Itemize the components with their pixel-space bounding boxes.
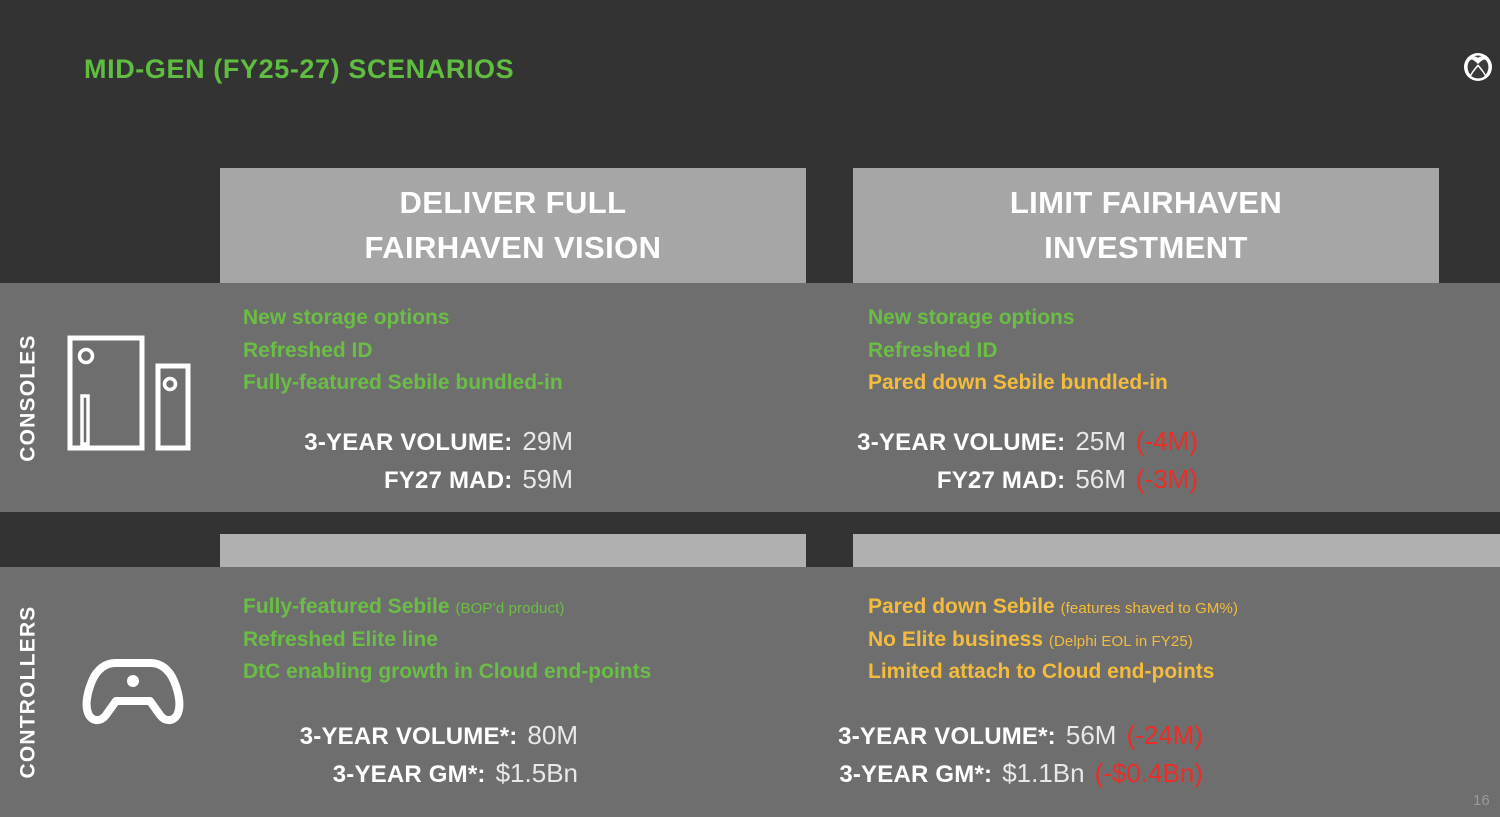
metric-value: 59M xyxy=(522,464,573,495)
metric-row: FY27 MAD: 56M (-3M) xyxy=(868,464,1198,502)
metric-value: 25M xyxy=(1075,426,1126,457)
bullet-item: Limited attach to Cloud end-points xyxy=(868,657,1238,690)
metric-value: 56M xyxy=(1066,720,1117,751)
bullet-item: Pared down Sebile (features shaved to GM… xyxy=(868,592,1238,625)
metrics-controllers-deliver-full-fairhaven-vision: 3-YEAR VOLUME*: 80M 3-YEAR GM*: $1.5Bn xyxy=(233,720,578,796)
bullet-text: New storage options xyxy=(868,306,1075,329)
metric-value: $1.5Bn xyxy=(496,758,578,789)
metric-delta: (-$0.4Bn) xyxy=(1095,758,1203,789)
bullet-text: DtC enabling growth in Cloud end-points xyxy=(243,660,651,683)
bullet-item: Refreshed ID xyxy=(243,336,563,369)
metric-value: 80M xyxy=(527,720,578,751)
metrics-consoles-limit-fairhaven-investment: 3-YEAR VOLUME: 25M (-4M) FY27 MAD: 56M (… xyxy=(868,426,1198,502)
page-title: MID-GEN (FY25-27) SCENARIOS xyxy=(84,54,514,85)
metric-delta: (-4M) xyxy=(1136,426,1198,457)
bullets-controllers-deliver-full-fairhaven-vision: Fully-featured Sebile (BOP’d product) Re… xyxy=(243,592,651,690)
metric-row: 3-YEAR VOLUME*: 56M (-24M) xyxy=(858,720,1203,758)
metric-row: 3-YEAR VOLUME: 25M (-4M) xyxy=(868,426,1198,464)
bullets-controllers-limit-fairhaven-investment: Pared down Sebile (features shaved to GM… xyxy=(868,592,1238,690)
metric-label: 3-YEAR VOLUME: xyxy=(857,429,1065,457)
column-strip-far-right xyxy=(1439,534,1500,567)
bullet-item: Refreshed Elite line xyxy=(243,625,651,658)
metric-label: FY27 MAD: xyxy=(937,467,1065,495)
row-label-consoles-text: CONSOLES xyxy=(17,334,41,461)
bullet-item: Refreshed ID xyxy=(868,336,1168,369)
bullet-item: Fully-featured Sebile bundled-in xyxy=(243,368,563,401)
bullet-item: Fully-featured Sebile (BOP’d product) xyxy=(243,592,651,625)
metric-row: 3-YEAR VOLUME*: 80M xyxy=(233,720,578,758)
bullet-note: (BOP’d product) xyxy=(455,600,564,617)
bullet-text: Fully-featured Sebile xyxy=(243,595,450,618)
metric-row: 3-YEAR VOLUME: 29M xyxy=(243,426,573,464)
column-strip-right xyxy=(853,534,1439,567)
column-header-left-line2: FAIRHAVEN VISION xyxy=(365,226,662,270)
metrics-consoles-deliver-full-fairhaven-vision: 3-YEAR VOLUME: 29M FY27 MAD: 59M xyxy=(243,426,573,502)
slide-canvas: MID-GEN (FY25-27) SCENARIOS DELIVER FULL… xyxy=(0,0,1500,817)
metric-value: 56M xyxy=(1075,464,1126,495)
metric-row: 3-YEAR GM*: $1.1Bn (-$0.4Bn) xyxy=(858,758,1203,796)
bullet-item: DtC enabling growth in Cloud end-points xyxy=(243,657,651,690)
metric-label: 3-YEAR VOLUME: xyxy=(304,429,512,457)
controller-icon xyxy=(82,655,184,734)
bullet-text: Fully-featured Sebile bundled-in xyxy=(243,371,563,394)
bullet-text: Pared down Sebile xyxy=(868,595,1055,618)
console-icon xyxy=(66,334,191,459)
row-label-controllers: CONTROLLERS xyxy=(0,567,58,817)
column-header-limit-fairhaven-investment: LIMIT FAIRHAVEN INVESTMENT xyxy=(853,168,1439,283)
bullet-text: Refreshed ID xyxy=(243,339,373,362)
metric-value: 29M xyxy=(522,426,573,457)
bullet-item: New storage options xyxy=(243,303,563,336)
bullet-item: New storage options xyxy=(868,303,1168,336)
metric-delta: (-3M) xyxy=(1136,464,1198,495)
metrics-controllers-limit-fairhaven-investment: 3-YEAR VOLUME*: 56M (-24M) 3-YEAR GM*: $… xyxy=(858,720,1203,796)
row-label-consoles: CONSOLES xyxy=(0,283,58,512)
page-number: 16 xyxy=(1473,792,1490,809)
metric-label: 3-YEAR GM*: xyxy=(839,761,992,789)
bullets-consoles-limit-fairhaven-investment: New storage options Refreshed ID Pared d… xyxy=(868,303,1168,401)
column-header-right-line1: LIMIT FAIRHAVEN xyxy=(1010,181,1282,225)
bullet-item: No Elite business (Delphi EOL in FY25) xyxy=(868,625,1238,658)
row-label-controllers-text: CONTROLLERS xyxy=(17,605,41,778)
column-header-left-line1: DELIVER FULL xyxy=(365,181,662,225)
metric-delta: (-24M) xyxy=(1126,720,1203,751)
bullets-consoles-deliver-full-fairhaven-vision: New storage options Refreshed ID Fully-f… xyxy=(243,303,563,401)
bullet-text: New storage options xyxy=(243,306,450,329)
metric-label: FY27 MAD: xyxy=(384,467,512,495)
metric-row: 3-YEAR GM*: $1.5Bn xyxy=(233,758,578,796)
bullet-text: Refreshed Elite line xyxy=(243,628,438,651)
bullet-text: No Elite business xyxy=(868,628,1043,651)
metric-label: 3-YEAR VOLUME*: xyxy=(300,723,518,751)
metric-row: FY27 MAD: 59M xyxy=(243,464,573,502)
metric-value: $1.1Bn xyxy=(1002,758,1084,789)
column-header-deliver-full-fairhaven-vision: DELIVER FULL FAIRHAVEN VISION xyxy=(220,168,806,283)
bullet-note: (Delphi EOL in FY25) xyxy=(1049,633,1193,650)
column-strip-left xyxy=(220,534,806,567)
row-band-controllers xyxy=(0,567,1500,817)
row-band-consoles xyxy=(0,283,1500,512)
bullet-text: Pared down Sebile bundled-in xyxy=(868,371,1168,394)
bullet-text: Limited attach to Cloud end-points xyxy=(868,660,1214,683)
bullet-text: Refreshed ID xyxy=(868,339,998,362)
metric-label: 3-YEAR GM*: xyxy=(333,761,486,789)
column-header-right-line2: INVESTMENT xyxy=(1010,226,1282,270)
bullet-item: Pared down Sebile bundled-in xyxy=(868,368,1168,401)
xbox-logo-icon xyxy=(1463,52,1493,82)
bullet-note: (features shaved to GM%) xyxy=(1061,600,1238,617)
metric-label: 3-YEAR VOLUME*: xyxy=(838,723,1056,751)
